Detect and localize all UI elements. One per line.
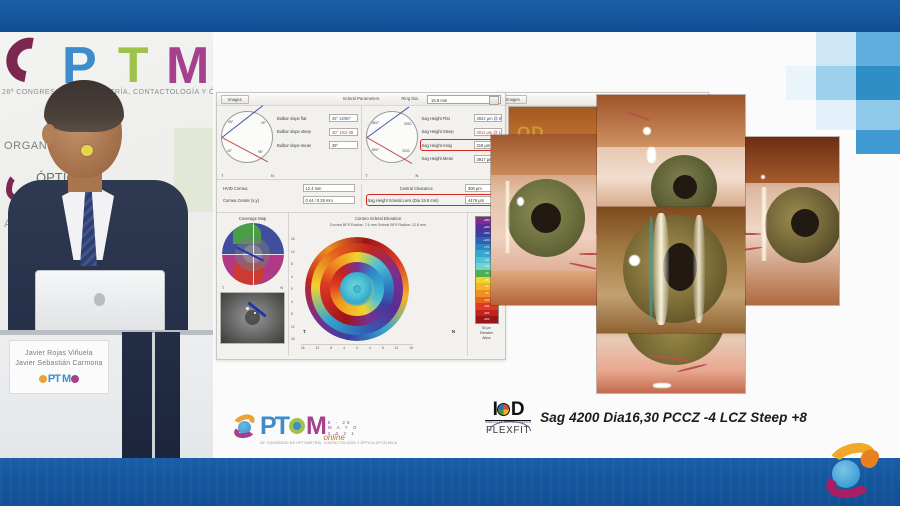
- x-tick: 4: [369, 346, 371, 350]
- optom-subtitle: 26º CONGRESO DE OPTOMETRÍA, CONTACTOLOGÍ…: [260, 441, 397, 445]
- speaker-name-2: Javier Sebastián Carmona: [15, 360, 102, 367]
- bulbar-axis-n: N: [271, 174, 274, 178]
- bottom-brand-bar: [0, 458, 900, 506]
- coverage-label-n: N: [280, 286, 283, 290]
- sag-height-panel: 3857 3952 3857 3933 T N Sag Height Flat …: [361, 106, 506, 179]
- y-tick: 16: [291, 237, 295, 241]
- scleral-topographer-window[interactable]: Images Scleral Parameters Ring Dia. 15.8…: [216, 92, 506, 360]
- y-tick: 12: [291, 325, 295, 329]
- sag-caption: Sag 4200 Dia16,30 PCCZ -4 LCZ Steep +8: [540, 410, 807, 425]
- optom-letters: PT M: [260, 414, 325, 438]
- top-brand-bar: [0, 0, 900, 32]
- x-tick: 8: [330, 346, 332, 350]
- parameters-row: 45° 28° 45° 98° T N Bulbar slope flat 26…: [217, 106, 505, 180]
- cornea-clearance-row: HVID Cornea 12.4 mm Cornea Center (x,y) …: [217, 180, 505, 213]
- microphone-icon: [81, 145, 93, 156]
- y-tick: 0: [291, 287, 295, 291]
- coverage-map[interactable]: [222, 223, 284, 285]
- hvid-cornea-label: HVID Cornea: [223, 186, 303, 191]
- central-clearance-label: Central Clearance: [368, 186, 466, 191]
- x-tick: 12: [395, 346, 399, 350]
- bulbar-slope-steep-value[interactable]: 40° 101/-28: [329, 128, 358, 136]
- nameplate-optom-logo: PT M: [39, 373, 79, 385]
- speaker-legs: [122, 332, 180, 458]
- icd-letter-i: I: [493, 400, 497, 419]
- ring-dia-label: Ring Dia.: [401, 96, 419, 101]
- icd-logo: I D IRREGULAR CORNEAL DESIGN FLEXFIT: [485, 400, 531, 437]
- icd-color-wheel-icon: [497, 403, 510, 416]
- elevation-title: Corneo Scleral Elevation: [289, 213, 467, 223]
- sag-axis-n: N: [416, 174, 419, 178]
- y-tick: 8: [291, 262, 295, 266]
- metric-row-highlighted: Sag Height Scleral Lens (Dia 15.8 mm) 44…: [368, 196, 500, 204]
- nameplate-logo-dot-magenta: [71, 375, 79, 383]
- coverage-map-title: Coverage Map: [217, 213, 288, 223]
- field-label: Sag Height Steep: [422, 129, 474, 134]
- field-row: Bulbar slope mean 29°: [277, 141, 358, 149]
- podium-cable: [152, 332, 155, 458]
- optom-brand-mark-icon: [822, 444, 878, 500]
- speaker-name-1: Javier Rojas Viñuela: [25, 350, 93, 357]
- icd-letter-d: D: [511, 400, 524, 419]
- cornea-cell: HVID Cornea 12.4 mm Cornea Center (x,y) …: [217, 184, 361, 208]
- coverage-column: Coverage Map: [217, 213, 289, 356]
- sag-height-dial: 3857 3952 3857 3933: [366, 111, 418, 163]
- optom-mark-icon: [233, 414, 257, 438]
- bulbar-slope-dial: 45° 28° 45° 98°: [221, 111, 273, 163]
- field-row: Bulbar slope flat 26° 42/80°: [277, 114, 358, 122]
- podium-edge: [0, 330, 213, 335]
- optom-date-month: M A Y O: [328, 425, 359, 430]
- y-tick: 4: [291, 275, 295, 279]
- laptop-logo-icon: [94, 293, 105, 306]
- hvid-cornea-value[interactable]: 12.4 mm: [303, 184, 355, 192]
- speaker-nameplate: Javier Rojas Viñuela Javier Sebastián Ca…: [9, 340, 109, 394]
- y-tick: 8: [291, 312, 295, 316]
- field-label: Bulbar slope steep: [277, 129, 329, 134]
- sag-dial-label-3: 3857: [372, 148, 380, 152]
- x-tick: 0: [356, 346, 358, 350]
- bulbar-fields: Bulbar slope flat 26° 42/80° Bulbar slop…: [277, 114, 358, 155]
- presentation-stage: P T M 26º CONGRESO DE OPTOMETRÍA, CONTAC…: [0, 0, 900, 506]
- elevation-label-t: T: [303, 329, 306, 334]
- bulbar-slope-flat-value[interactable]: 26° 42/80°: [329, 114, 358, 122]
- dial-label-3: 45°: [227, 149, 232, 153]
- eye-photo-left[interactable]: [490, 134, 610, 306]
- lens-edge-reflection: [649, 215, 653, 323]
- x-tick: 4: [343, 346, 345, 350]
- elevation-column: Corneo Scleral Elevation Cornea BFS Radi…: [289, 213, 467, 356]
- bulbar-slope-panel: 45° 28° 45° 98° T N Bulbar slope flat 26…: [217, 106, 361, 179]
- elevation-x-axis: 16 12 8 4 0 4 8 12 16: [301, 344, 413, 350]
- field-label: Bulbar slope flat: [277, 116, 329, 121]
- bulbar-axis-t: T: [221, 174, 223, 178]
- sag-dial-label-4: 3933: [402, 149, 410, 153]
- sag-dial-label-2: 3952: [404, 122, 412, 126]
- x-tick: 8: [382, 346, 384, 350]
- field-label: Sag Height Flat: [422, 116, 474, 121]
- dial-label-2: 28°: [261, 121, 266, 125]
- cornea-center-value[interactable]: 0.44 / 0.28 mm: [303, 196, 355, 204]
- presenter-video: P T M 26º CONGRESO DE OPTOMETRÍA, CONTAC…: [0, 32, 213, 458]
- icd-wordmark: I D: [485, 400, 531, 419]
- elevation-subtitle: Cornea BFS Radius: 7.6 mm Scleral BFS Ra…: [289, 223, 467, 227]
- backdrop-logo-letter-m: M: [166, 36, 206, 96]
- x-tick: 16: [409, 346, 413, 350]
- sag-scleral-lens-label: Sag Height Scleral Lens (Dia 15.8 mm): [368, 198, 466, 203]
- metric-row: Central Clearance 300 µm: [368, 184, 500, 192]
- backdrop-logo-letter-t: T: [118, 36, 146, 94]
- y-tick: 4: [291, 300, 295, 304]
- bulbar-slope-mean-value[interactable]: 29°: [329, 141, 358, 149]
- y-tick: 16: [291, 337, 295, 341]
- speaker-ear: [42, 124, 56, 144]
- maps-section: Coverage Map: [217, 213, 505, 356]
- icd-flexfit-block: I D IRREGULAR CORNEAL DESIGN FLEXFIT Sag…: [485, 400, 807, 437]
- clearance-cell: Central Clearance 300 µm Sag Height Scle…: [361, 184, 506, 208]
- eye-photo-center-lens[interactable]: [596, 206, 746, 334]
- slide-content: Images 15.8 mm Bulbar slope flat 26° 42/…: [213, 32, 900, 458]
- nameplate-logo-dot-yellow: [39, 375, 47, 383]
- field-label: Sag Height Mean: [422, 156, 474, 161]
- speaker-laptop: [35, 270, 165, 336]
- slit-lamp-thumbnail[interactable]: [220, 292, 285, 344]
- metric-row: HVID Cornea 12.4 mm: [223, 184, 355, 192]
- field-row: Bulbar slope steep 40° 101/-28: [277, 128, 358, 136]
- y-tick: 12: [291, 250, 295, 254]
- dial-label-1: 45°: [228, 120, 233, 124]
- nameplate-logo-text: PT M: [48, 373, 70, 385]
- flexfit-wordmark: FLEXFIT: [485, 425, 531, 436]
- field-label: Sag Height Astig: [422, 143, 474, 148]
- field-label: Bulbar slope mean: [277, 143, 329, 148]
- coverage-label-t: T: [222, 286, 224, 290]
- dial-label-4: 98°: [258, 150, 263, 154]
- coverage-axis-labels: T N: [217, 285, 288, 290]
- sag-axis-t: T: [366, 174, 368, 178]
- x-tick: 16: [301, 346, 305, 350]
- sag-dial-label-1: 3857: [372, 121, 380, 125]
- corneo-scleral-elevation-map[interactable]: [305, 237, 409, 341]
- optom-footer-logo: PT M online 26º CONGRESO DE OPTOMETRÍA, …: [233, 414, 358, 438]
- slit-lamp-montage: OD: [490, 94, 840, 394]
- elevation-label-n: N: [452, 329, 455, 334]
- x-tick: 12: [316, 346, 320, 350]
- metric-row: Cornea Center (x,y) 0.44 / 0.28 mm: [223, 196, 355, 204]
- elevation-y-axis: 16 12 8 4 0 4 8 12 16: [291, 237, 295, 341]
- cornea-center-label: Cornea Center (x,y): [223, 198, 303, 203]
- window-toolbar: Images Scleral Parameters Ring Dia. 15.8…: [217, 93, 505, 106]
